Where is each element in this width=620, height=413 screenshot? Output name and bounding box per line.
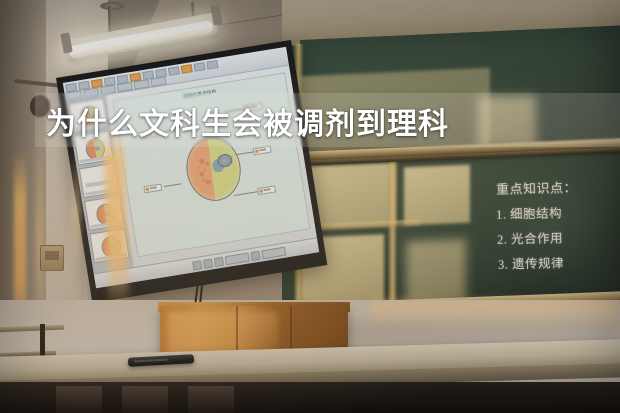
window-mullion-shadow (388, 150, 397, 310)
taskbar-button-icon[interactable] (251, 251, 261, 261)
blackboard-line-3: 3. 遗传规律 (498, 252, 564, 272)
ribbon-button-icon[interactable] (168, 66, 180, 76)
blackboard-line-2: 2. 光合作用 (497, 227, 563, 247)
callout-label (253, 146, 272, 156)
taskbar-button-icon[interactable] (203, 258, 213, 268)
thumbnail-text-line (85, 188, 117, 196)
taskbar-button-icon[interactable] (214, 257, 224, 267)
wall-outlet[interactable] (40, 245, 64, 271)
desk-cubby (122, 386, 168, 413)
callout-leader-line (164, 183, 182, 187)
thumbnail-text-line (85, 179, 113, 187)
slide-thumbnail[interactable] (79, 163, 119, 198)
lamp-mount (100, 2, 124, 10)
taskbar-button-icon[interactable] (193, 260, 203, 270)
projection-screen-surface: 细胞的基本结构 (63, 47, 319, 288)
desk-cubby (188, 386, 234, 413)
sunlight-patch (404, 165, 470, 226)
ribbon-button-icon[interactable] (206, 60, 218, 70)
ribbon-button-icon[interactable] (181, 64, 193, 74)
overlay-title: 为什么文科生会被调剂到理科 (46, 100, 606, 142)
callout-label (257, 185, 276, 195)
slide-thumbnail[interactable] (84, 195, 124, 230)
projection-screen: 细胞的基本结构 (56, 40, 327, 303)
taskbar-status-field[interactable] (225, 252, 250, 265)
ribbon-button-icon[interactable] (194, 62, 206, 72)
blackboard-line-1: 1. 细胞结构 (496, 202, 562, 222)
sunlight-patch (406, 239, 466, 306)
callout-label (143, 184, 162, 194)
classroom-photo: 重点知识点： 1. 细胞结构 2. 光合作用 3. 遗传规律 (0, 0, 620, 413)
blackboard-heading: 重点知识点： (496, 177, 577, 198)
callout-leader-line (234, 191, 260, 196)
taskbar-status-field[interactable] (262, 247, 287, 260)
slide-thumbnail[interactable] (89, 228, 129, 263)
desk-cubby (56, 386, 102, 413)
